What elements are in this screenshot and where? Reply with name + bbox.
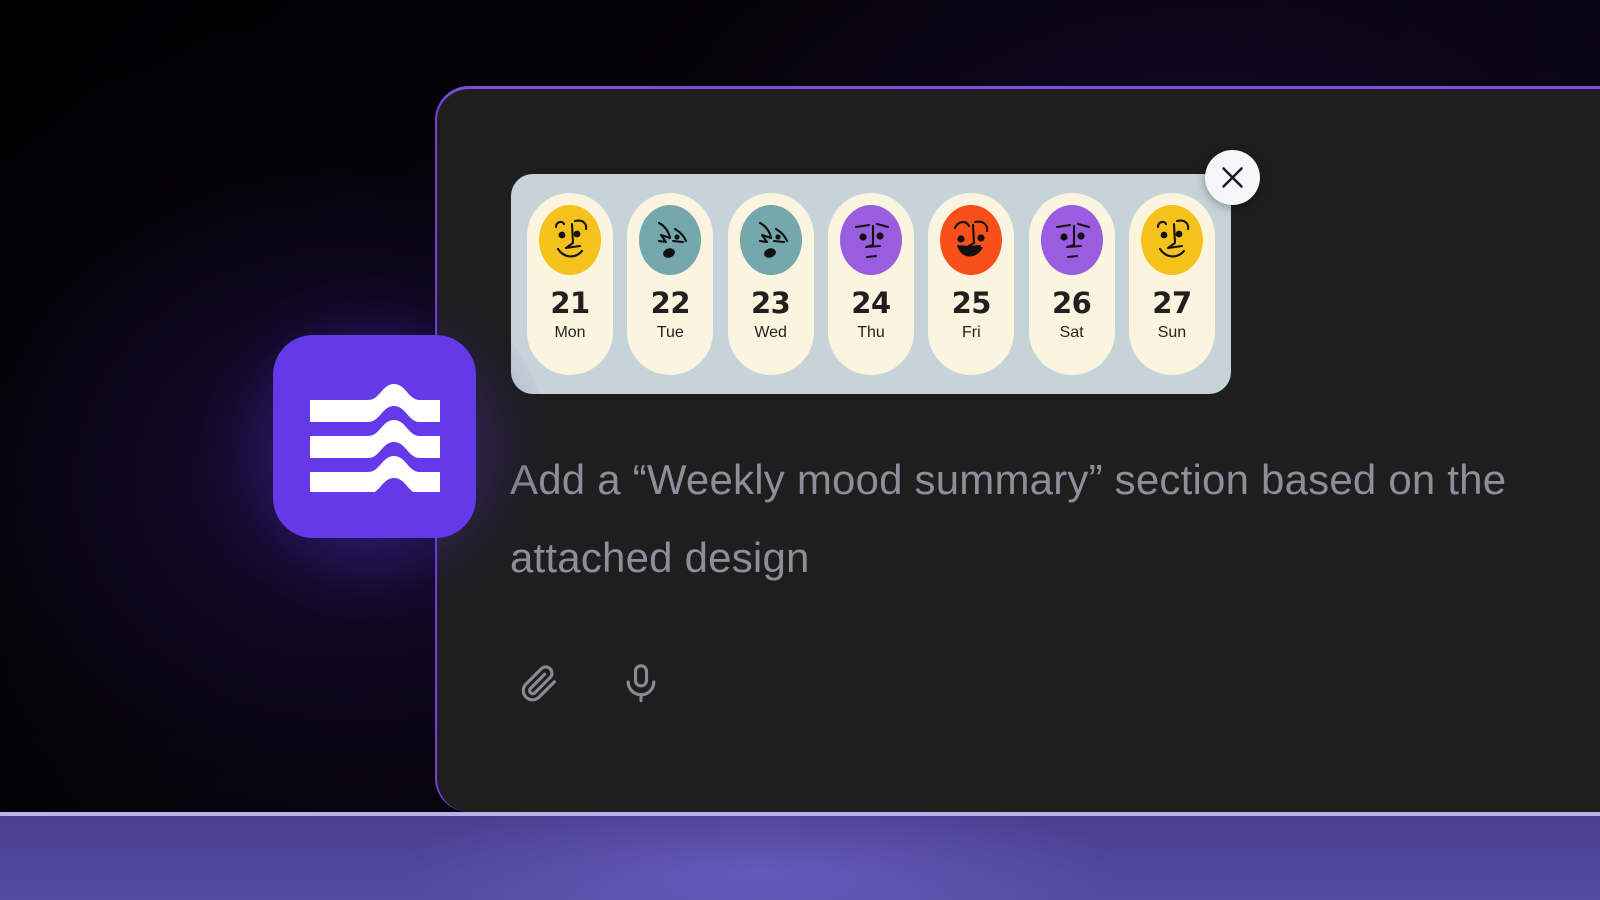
mood-day-label: Wed	[754, 325, 787, 341]
mood-face-neutral-icon	[840, 205, 902, 275]
close-attachment-button[interactable]	[1205, 150, 1260, 205]
mood-day-label: Mon	[554, 325, 585, 341]
mood-day-label: Fri	[962, 325, 981, 341]
mood-day-label: Sun	[1158, 325, 1186, 341]
mood-day-chip[interactable]: 25 Fri	[928, 193, 1014, 375]
mood-day-number: 21	[550, 289, 589, 318]
mood-day-chip[interactable]: 21 Mon	[527, 193, 613, 375]
mood-day-number: 27	[1152, 289, 1191, 318]
attach-file-button[interactable]	[513, 657, 565, 709]
mood-face-happy-icon	[940, 205, 1002, 275]
paperclip-icon	[517, 661, 561, 705]
app-logo	[273, 335, 476, 538]
mood-day-label: Tue	[657, 325, 684, 341]
composer-card: 21 Mon 22 Tue 23 Wed 24	[435, 86, 1600, 812]
mood-day-chip[interactable]: 26 Sat	[1029, 193, 1115, 375]
mood-day-chip[interactable]: 27 Sun	[1129, 193, 1215, 375]
voice-input-button[interactable]	[615, 657, 667, 709]
mood-day-label: Sat	[1060, 325, 1084, 341]
mood-day-chip[interactable]: 23 Wed	[728, 193, 814, 375]
mood-day-number: 24	[851, 289, 890, 318]
mood-day-number: 22	[651, 289, 690, 318]
mood-face-sad-icon	[740, 205, 802, 275]
mood-face-content-icon	[539, 205, 601, 275]
bottom-accent-band	[0, 812, 1600, 900]
app-logo-tile[interactable]	[273, 335, 476, 538]
mood-face-content-icon	[1141, 205, 1203, 275]
mood-day-chip[interactable]: 24 Thu	[828, 193, 914, 375]
close-icon	[1219, 164, 1246, 191]
mood-day-number: 26	[1052, 289, 1091, 318]
wave-lines-logo-icon	[310, 382, 440, 492]
mood-day-number: 25	[952, 289, 991, 318]
mood-day-label: Thu	[857, 325, 885, 341]
mood-face-sad-icon	[639, 205, 701, 275]
weekly-mood-summary-attachment[interactable]: 21 Mon 22 Tue 23 Wed 24	[511, 174, 1231, 394]
mood-day-number: 23	[751, 289, 790, 318]
composer-toolbar	[513, 657, 667, 709]
screen: 21 Mon 22 Tue 23 Wed 24	[0, 0, 1600, 900]
prompt-text[interactable]: Add a “Weekly mood summary” section base…	[510, 441, 1510, 596]
microphone-icon	[619, 661, 663, 705]
mood-day-chip[interactable]: 22 Tue	[627, 193, 713, 375]
mood-face-neutral-icon	[1041, 205, 1103, 275]
